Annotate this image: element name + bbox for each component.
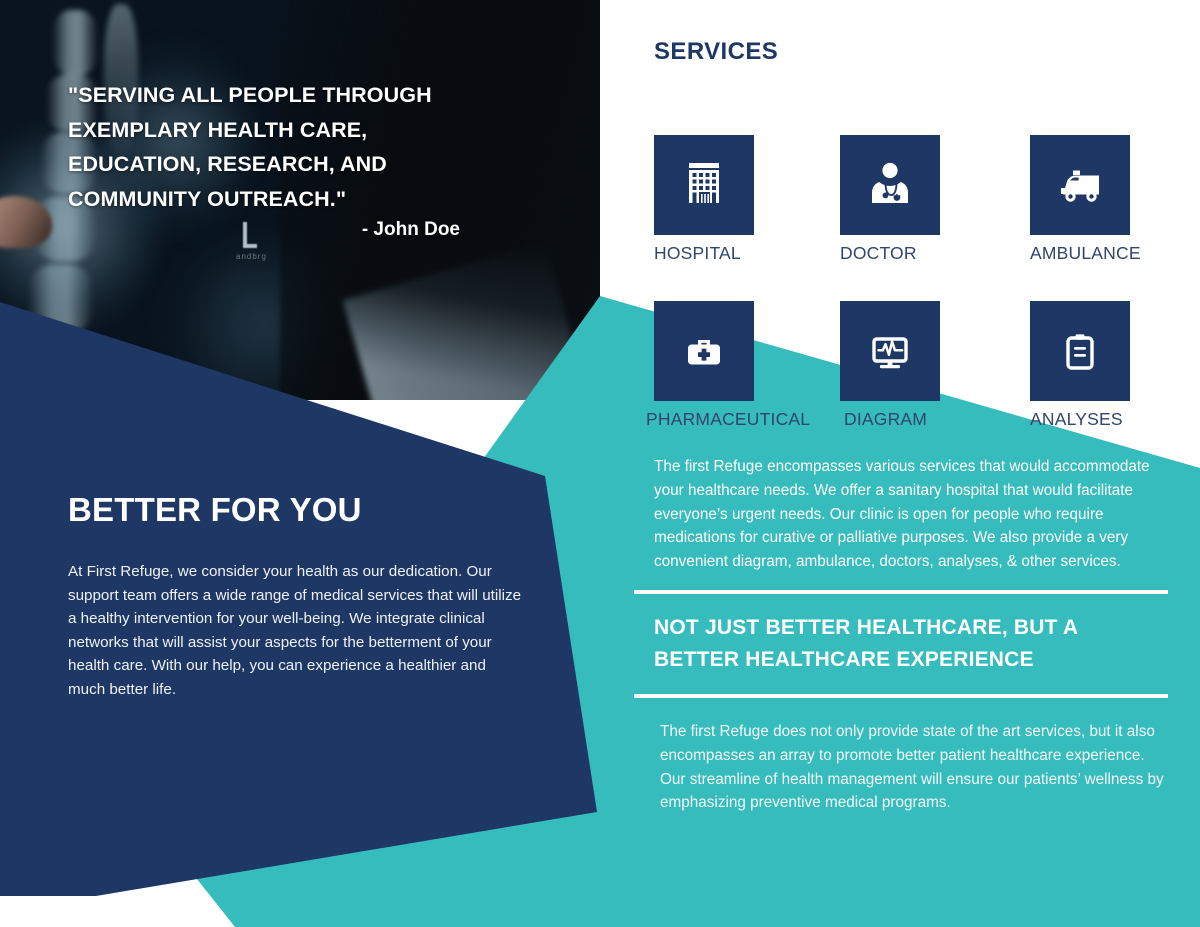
doctor-icon <box>863 158 917 212</box>
services-section: SERVICES <box>654 38 1174 83</box>
monitor-heartbeat-icon <box>863 324 917 378</box>
service-item-doctor[interactable]: DOCTOR <box>840 135 940 264</box>
ambulance-icon <box>1053 158 1107 212</box>
hospital-icon <box>677 158 731 212</box>
services-heading: SERVICES <box>654 38 1174 66</box>
service-item-pharmaceutical[interactable]: PHARMACEUTICAL <box>654 301 810 430</box>
divider-bottom <box>634 694 1168 698</box>
service-label: DIAGRAM <box>844 409 940 430</box>
service-label: ANALYSES <box>1030 409 1130 430</box>
brochure-page: andbrg "SERVING ALL PEOPLE THROUGH EXEMP… <box>0 0 1200 927</box>
service-tile <box>840 135 940 235</box>
service-tile <box>1030 135 1130 235</box>
right-panel-heading: NOT JUST BETTER HEALTHCARE, BUT A BETTER… <box>654 612 1168 676</box>
service-tile <box>654 301 754 401</box>
service-item-hospital[interactable]: HOSPITAL <box>654 135 754 264</box>
service-label: AMBULANCE <box>1030 243 1141 264</box>
service-label: HOSPITAL <box>654 243 754 264</box>
service-label: DOCTOR <box>840 243 940 264</box>
left-panel-content: BETTER FOR YOU At First Refuge, we consi… <box>68 490 523 702</box>
service-item-ambulance[interactable]: AMBULANCE <box>1030 135 1141 264</box>
medical-case-icon <box>677 324 731 378</box>
service-tile <box>840 301 940 401</box>
left-panel-paragraph: At First Refuge, we consider your health… <box>68 560 523 702</box>
right-paragraph-2: The first Refuge does not only provide s… <box>660 720 1168 815</box>
xray-marker-label: andbrg <box>236 252 267 261</box>
hero-quote-text: "SERVING ALL PEOPLE THROUGH EXEMPLARY HE… <box>68 78 488 216</box>
service-item-analyses[interactable]: ANALYSES <box>1030 301 1130 430</box>
hero-quote-author: - John Doe <box>68 219 488 241</box>
service-tile <box>654 135 754 235</box>
left-panel-title: BETTER FOR YOU <box>68 490 523 530</box>
service-item-diagram[interactable]: DIAGRAM <box>840 301 940 430</box>
hero-quote-block: "SERVING ALL PEOPLE THROUGH EXEMPLARY HE… <box>68 78 488 241</box>
right-paragraph-1: The first Refuge encompasses various ser… <box>654 455 1168 574</box>
clipboard-icon <box>1053 324 1107 378</box>
service-tile <box>1030 301 1130 401</box>
service-label: PHARMACEUTICAL <box>646 409 810 430</box>
divider-top <box>634 590 1168 594</box>
right-panel-content: The first Refuge encompasses various ser… <box>654 455 1168 815</box>
